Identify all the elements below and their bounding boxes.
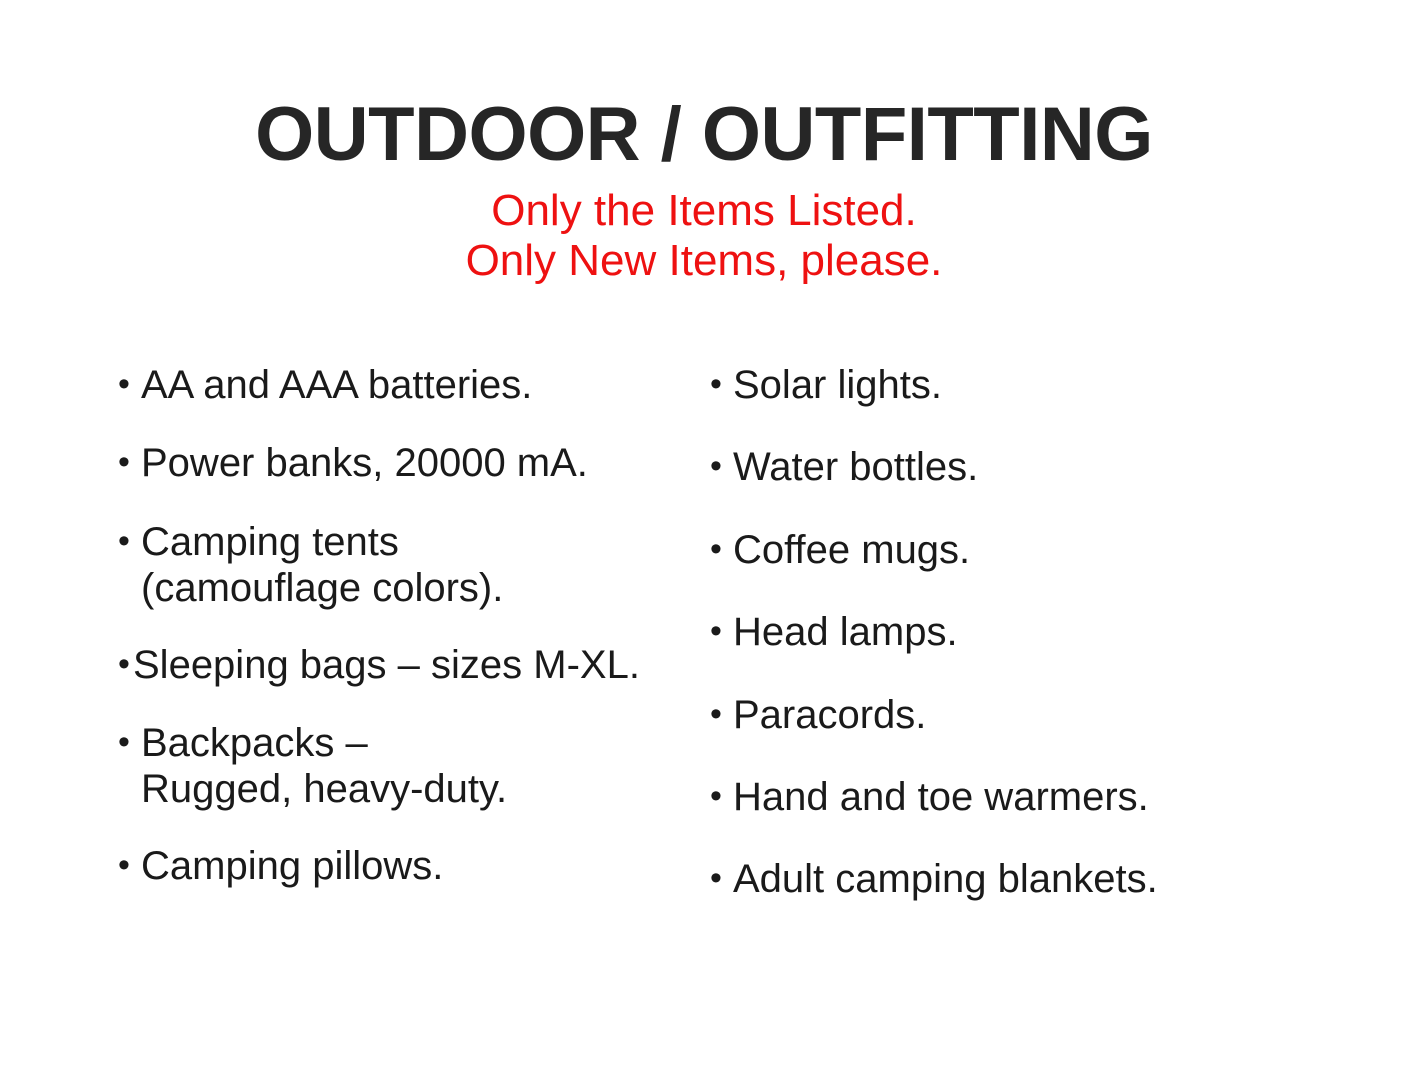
list-item: •Solar lights. bbox=[710, 362, 1310, 408]
page-title: OUTDOOR / OUTFITTING bbox=[0, 96, 1408, 174]
list-item: •AA and AAA batteries. bbox=[118, 362, 698, 408]
subtitle: Only the Items Listed. Only New Items, p… bbox=[0, 174, 1408, 287]
list-item-label: Water bottles. bbox=[733, 444, 1310, 490]
list-item: •Backpacks – Rugged, heavy-duty. bbox=[118, 720, 698, 813]
list-item-label: Adult camping blankets. bbox=[733, 856, 1310, 902]
list-item: •Water bottles. bbox=[710, 444, 1310, 490]
list-item-label: Camping pillows. bbox=[141, 843, 698, 889]
right-bullet-column: •Solar lights.•Water bottles.•Coffee mug… bbox=[710, 362, 1310, 939]
bullet-point-icon: • bbox=[118, 642, 133, 686]
bullet-point-icon: • bbox=[118, 843, 141, 887]
bullet-point-icon: • bbox=[710, 856, 733, 900]
list-item-label: Coffee mugs. bbox=[733, 527, 1310, 573]
left-bullet-column: •AA and AAA batteries.•Power banks, 2000… bbox=[118, 362, 698, 921]
list-item: •Paracords. bbox=[710, 692, 1310, 738]
list-item: •Camping tents (camouflage colors). bbox=[118, 519, 698, 612]
content-columns: •AA and AAA batteries.•Power banks, 2000… bbox=[0, 362, 1408, 922]
bullet-point-icon: • bbox=[710, 444, 733, 488]
list-item-label: Solar lights. bbox=[733, 362, 1310, 408]
bullet-point-icon: • bbox=[118, 720, 141, 764]
list-item: •Camping pillows. bbox=[118, 843, 698, 889]
list-item: •Coffee mugs. bbox=[710, 527, 1310, 573]
bullet-point-icon: • bbox=[710, 362, 733, 406]
title-block: OUTDOOR / OUTFITTING Only the Items List… bbox=[0, 96, 1408, 287]
list-item-label: Power banks, 20000 mA. bbox=[141, 440, 698, 486]
list-item: •Hand and toe warmers. bbox=[710, 774, 1310, 820]
list-item: •Head lamps. bbox=[710, 609, 1310, 655]
list-item: •Adult camping blankets. bbox=[710, 856, 1310, 902]
bullet-point-icon: • bbox=[710, 692, 733, 736]
subtitle-line-2: Only New Items, please. bbox=[0, 236, 1408, 287]
list-item: •Power banks, 20000 mA. bbox=[118, 440, 698, 486]
list-item-label: Sleeping bags – sizes M-XL. bbox=[133, 642, 698, 688]
list-item-label: Camping tents (camouflage colors). bbox=[141, 519, 698, 612]
list-item-label: Hand and toe warmers. bbox=[733, 774, 1310, 820]
list-item-label: Head lamps. bbox=[733, 609, 1310, 655]
list-item-label: AA and AAA batteries. bbox=[141, 362, 698, 408]
subtitle-line-1: Only the Items Listed. bbox=[0, 186, 1408, 237]
slide-canvas: OUTDOOR / OUTFITTING Only the Items List… bbox=[0, 0, 1408, 1088]
bullet-point-icon: • bbox=[710, 774, 733, 818]
list-item: •Sleeping bags – sizes M-XL. bbox=[118, 642, 698, 688]
bullet-point-icon: • bbox=[118, 362, 141, 406]
bullet-point-icon: • bbox=[118, 519, 141, 563]
list-item-label: Backpacks – Rugged, heavy-duty. bbox=[141, 720, 698, 813]
bullet-point-icon: • bbox=[118, 440, 141, 484]
bullet-point-icon: • bbox=[710, 609, 733, 653]
bullet-point-icon: • bbox=[710, 527, 733, 571]
list-item-label: Paracords. bbox=[733, 692, 1310, 738]
